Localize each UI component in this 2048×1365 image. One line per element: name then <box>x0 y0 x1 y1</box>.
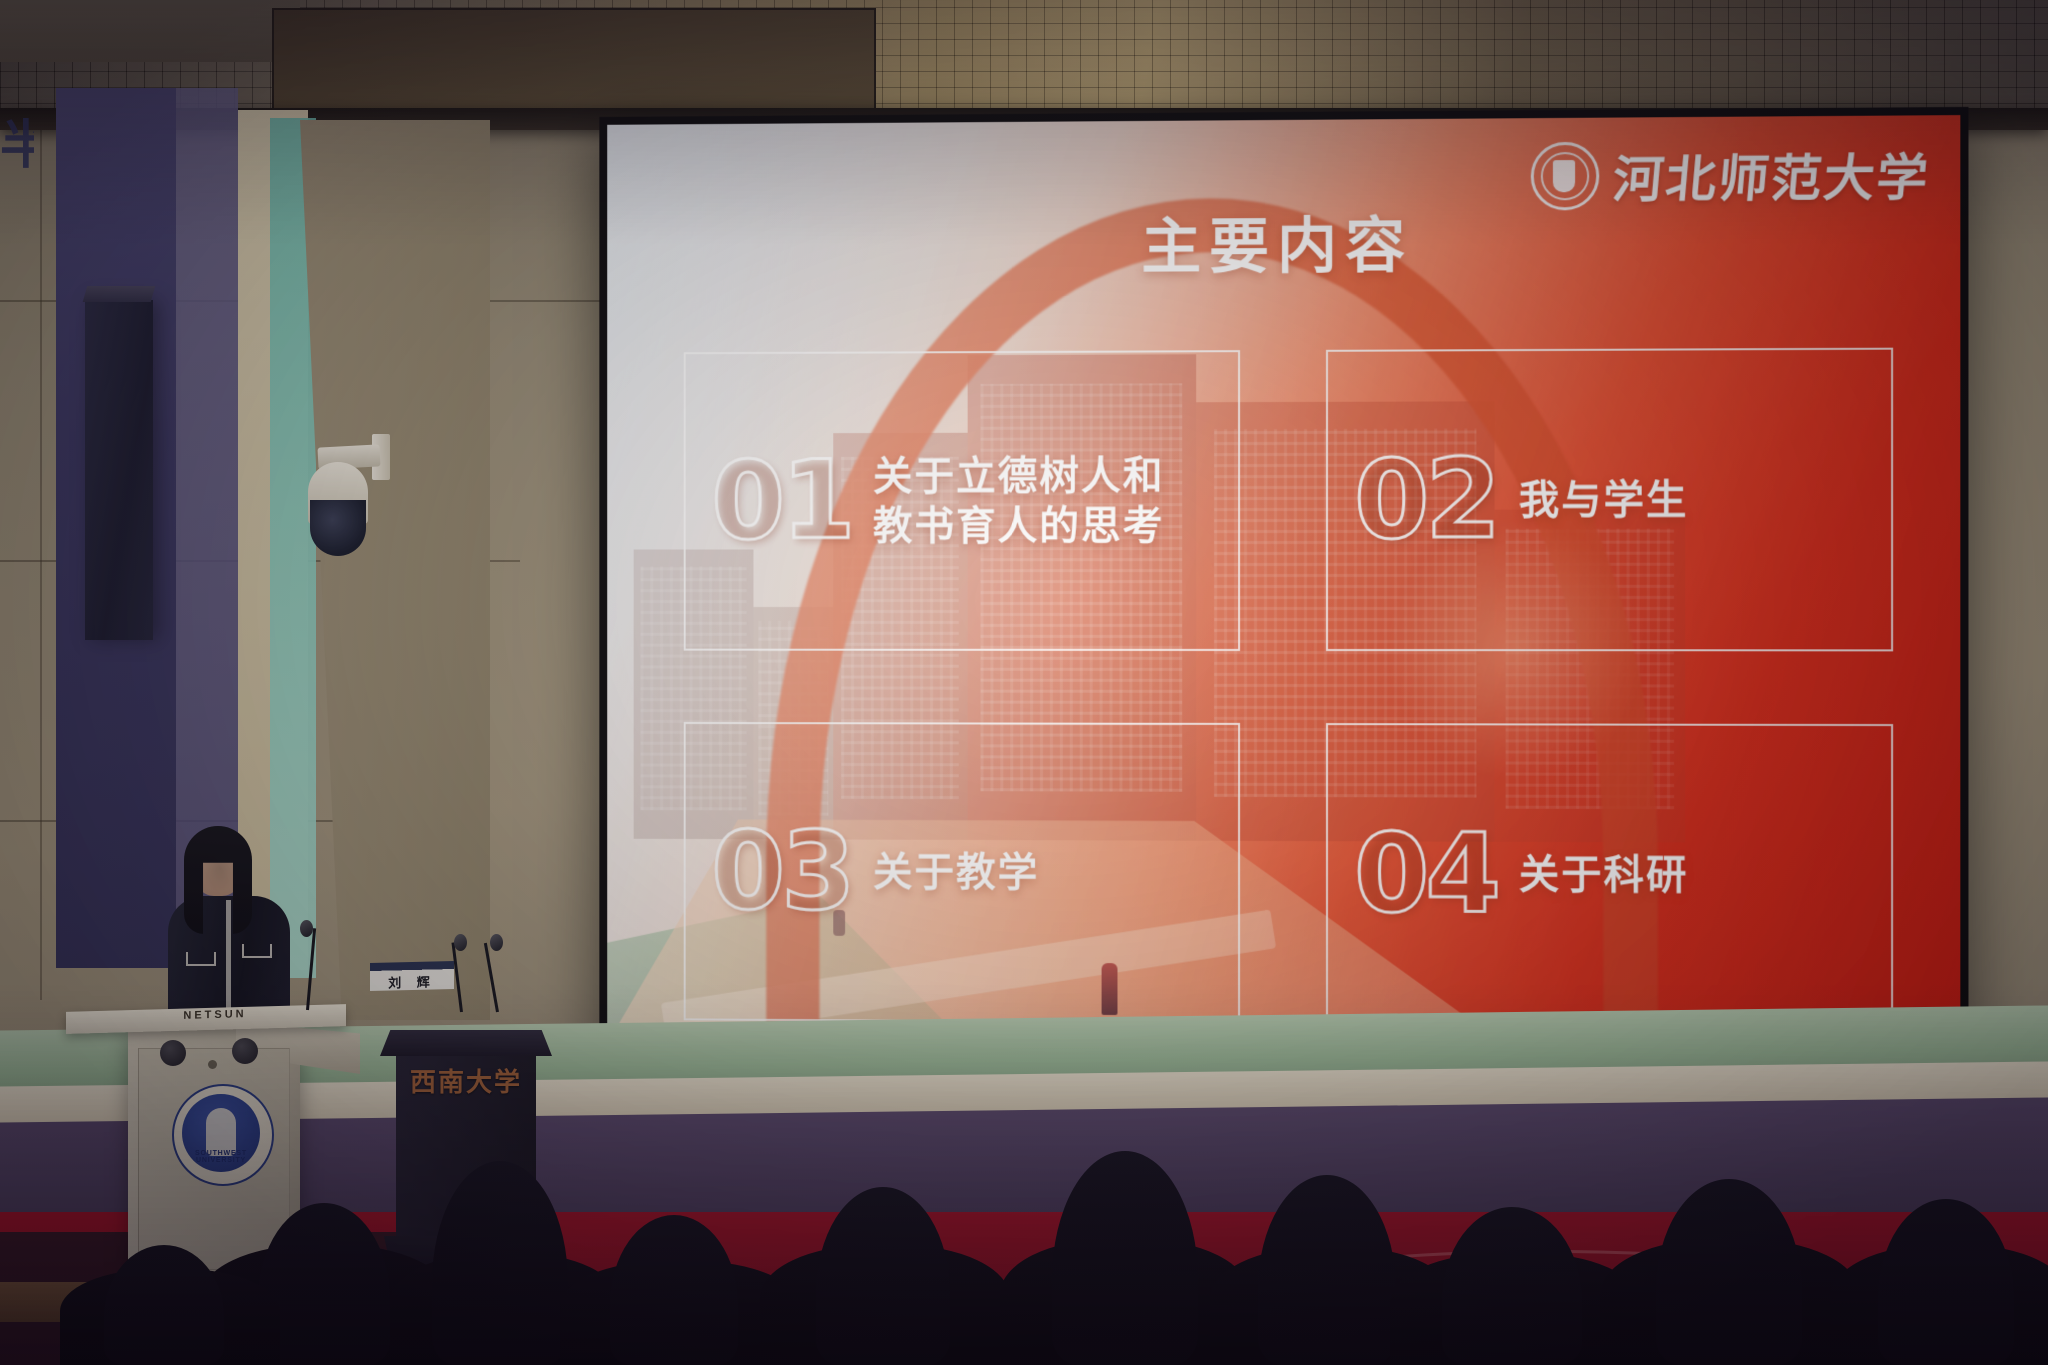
podium-indicator-light <box>208 1060 217 1069</box>
item-label-line1: 关于立德树人和 <box>873 451 1165 501</box>
item-label-line2: 教书育人的思考 <box>873 501 1165 551</box>
podium-knob[interactable] <box>160 1040 186 1066</box>
projection-screen: 河北师范大学 主要内容 01 关于立德树人和 教书育人的思考 02 <box>607 115 1960 1099</box>
microphone-head-icon <box>490 934 503 951</box>
name-plate-text: 刘 辉 <box>370 971 454 992</box>
slide-content: 河北师范大学 主要内容 01 关于立德树人和 教书育人的思考 02 <box>607 115 1960 1099</box>
wooden-bench <box>0 1282 460 1322</box>
content-grid: 01 关于立德树人和 教书育人的思考 02 我与学生 03 <box>684 348 1893 1028</box>
item-label: 关于立德树人和 教书育人的思考 <box>873 451 1165 551</box>
content-item-04: 04 关于科研 <box>1326 723 1893 1028</box>
wall-seam <box>40 100 42 1000</box>
projection-screen-frame: 河北师范大学 主要内容 01 关于立德树人和 教书育人的思考 02 <box>599 107 1968 1107</box>
item-label: 关于教学 <box>873 847 1039 897</box>
ceiling-panel <box>272 8 876 118</box>
podium-seal-emblem <box>206 1108 236 1156</box>
content-item-03: 03 关于教学 <box>684 722 1240 1024</box>
camera-lens-icon <box>310 500 366 556</box>
item-number: 01 <box>711 448 851 555</box>
secondary-lectern-base <box>384 1236 548 1282</box>
microphone-head-icon <box>300 920 313 937</box>
content-item-01: 01 关于立德树人和 教书育人的思考 <box>684 350 1240 651</box>
ceiling-edge <box>0 0 300 62</box>
item-label: 关于科研 <box>1519 849 1689 900</box>
podium-seal-text: SOUTHWEST UNIVERSITY <box>172 1150 270 1164</box>
content-item-02: 02 我与学生 <box>1326 348 1893 652</box>
item-label-line1: 关于教学 <box>873 847 1039 897</box>
screenshot-root: 半 <box>0 0 2048 1365</box>
item-label-line1: 关于科研 <box>1519 849 1689 900</box>
item-number: 02 <box>1354 446 1497 554</box>
wall-glyph-text: 半 <box>0 118 34 238</box>
item-number: 04 <box>1354 820 1497 929</box>
wall-speaker-column <box>85 300 153 640</box>
secondary-lectern-top <box>380 1030 552 1056</box>
item-label-line1: 我与学生 <box>1519 475 1689 526</box>
speaker-jacket-pocket <box>186 952 216 966</box>
item-number: 03 <box>711 818 851 926</box>
slide-title: 主要内容 <box>607 194 1960 288</box>
speaker-jacket-pocket <box>242 944 272 958</box>
microphone-head-icon <box>454 934 467 951</box>
item-label: 我与学生 <box>1519 475 1689 526</box>
secondary-lectern-text: 西南大学 <box>396 1062 536 1099</box>
podium-knob[interactable] <box>232 1038 258 1064</box>
